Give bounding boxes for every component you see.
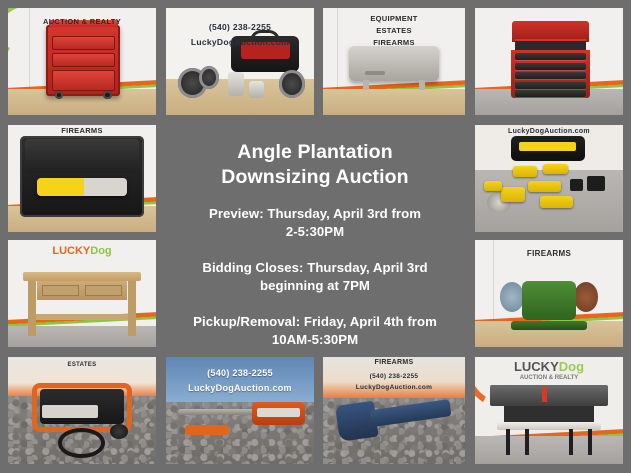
auction-title-line1: Angle Plantation	[221, 140, 408, 165]
dog-text: Dog	[90, 245, 111, 257]
photo-tile-red-toolbox[interactable]	[475, 8, 623, 115]
photo-tile-red-tool-cabinet[interactable]: AUCTION & REALTY	[8, 8, 156, 115]
auction-announcement: Angle Plantation Downsizing Auction Prev…	[160, 126, 470, 346]
auction-title-line2: Downsizing Auction	[221, 165, 408, 190]
photo-tile-bench-grinder[interactable]: FIREARMS	[475, 240, 623, 347]
photo-tile-fishing-reels[interactable]: (540) 238-2255 LuckyDogAuction.com	[166, 8, 314, 115]
tile-7-caption-logo: LUCKYDog	[8, 245, 156, 257]
tile-5-caption: FIREARMS	[8, 126, 156, 135]
tile-2-caption-phone: (540) 238-2255	[166, 22, 314, 33]
pickup-line2: 10AM-5:30PM	[193, 331, 437, 349]
tile-12-caption-tagline: AUCTION & REALTY	[475, 375, 623, 381]
tile-5-image: FIREARMS	[8, 125, 156, 232]
tile-6-image: LuckyDogAuction.com	[475, 125, 623, 232]
photo-tile-dewalt-tool-set[interactable]: LuckyDogAuction.com	[475, 125, 623, 232]
tile-3-image: EQUIPMENT ESTATES FIREARMS	[323, 8, 465, 115]
tile-10-image: (540) 238-2255 LuckyDogAuction.com	[166, 357, 314, 464]
photo-tile-outboard-motor[interactable]: FIREARMS (540) 238-2255 LuckyDogAuction.…	[323, 357, 465, 464]
tile-6-caption: LuckyDogAuction.com	[475, 128, 623, 137]
tile-12-image: LUCKYDog AUCTION & REALTY	[475, 357, 623, 464]
tile-9-caption: ESTATES	[8, 362, 156, 370]
photo-tile-dewalt-hammer-case[interactable]: FIREARMS	[8, 125, 156, 232]
tile-11-caption-phone: (540) 238-2255	[323, 373, 465, 381]
tile-4-image	[475, 8, 623, 115]
tile-3-caption-estates: ESTATES	[323, 26, 465, 35]
tile-1-caption: AUCTION & REALTY	[8, 17, 156, 26]
photo-tile-stainless-grill[interactable]: EQUIPMENT ESTATES FIREARMS	[323, 8, 465, 115]
photo-tile-generator[interactable]: ESTATES	[8, 357, 156, 464]
tile-8-caption: FIREARMS	[475, 249, 623, 259]
tile-8-image: FIREARMS	[475, 240, 623, 347]
tile-10-caption-website: LuckyDogAuction.com	[166, 383, 314, 394]
tile-11-image: FIREARMS (540) 238-2255 LuckyDogAuction.…	[323, 357, 465, 464]
photo-tile-table-saw[interactable]: LUCKYDog AUCTION & REALTY	[475, 357, 623, 464]
pickup-line1: Pickup/Removal: Friday, April 4th from	[193, 313, 437, 331]
tile-2-image: (540) 238-2255 LuckyDogAuction.com	[166, 8, 314, 115]
bidding-line1: Bidding Closes: Thursday, April 3rd	[202, 259, 427, 277]
tile-3-caption-equipment: EQUIPMENT	[323, 14, 465, 23]
auction-flyer: AUCTION & REALTY (540) 238-2255 LuckyDog…	[0, 0, 631, 473]
tile-9-image: ESTATES	[8, 357, 156, 464]
preview-line2: 2-5:30PM	[209, 223, 421, 241]
tile-1-image: AUCTION & REALTY	[8, 8, 156, 115]
dog-text-2: Dog	[559, 359, 584, 374]
tile-11-caption-firearms: FIREARMS	[323, 359, 465, 368]
preview-line1: Preview: Thursday, April 3rd from	[209, 205, 421, 223]
lucky-text: LUCKY	[52, 245, 90, 257]
tile-3-caption-firearms: FIREARMS	[323, 38, 465, 47]
tile-12-caption-logo: LUCKYDog	[475, 359, 623, 374]
tile-10-caption-phone: (540) 238-2255	[166, 368, 314, 379]
tile-2-caption-website: LuckyDogAuction.com	[166, 37, 314, 48]
tile-7-image: LUCKYDog	[8, 240, 156, 347]
photo-tile-workbench[interactable]: LUCKYDog	[8, 240, 156, 347]
tile-11-caption-website: LuckyDogAuction.com	[323, 384, 465, 392]
photo-tile-chainsaw[interactable]: (540) 238-2255 LuckyDogAuction.com	[166, 357, 314, 464]
lucky-text-2: LUCKY	[514, 359, 559, 374]
bidding-line2: beginning at 7PM	[202, 277, 427, 295]
